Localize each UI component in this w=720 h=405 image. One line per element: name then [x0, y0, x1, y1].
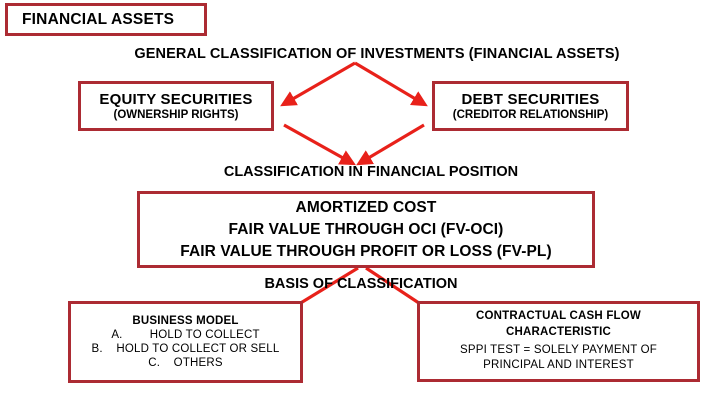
classification-position-header: CLASSIFICATION IN FINANCIAL POSITION — [200, 164, 542, 180]
business-model-item: A. HOLD TO COLLECT — [111, 329, 259, 341]
financial-assets-title-box: FINANCIAL ASSETS — [5, 3, 207, 36]
debt-securities-subtitle: (CREDITOR RELATIONSHIP) — [453, 109, 608, 121]
equity-securities-title: EQUITY SECURITIES — [99, 91, 252, 108]
arrow-equity-to-position — [284, 125, 352, 163]
arrow-debt-to-position — [360, 125, 424, 163]
page-title: FINANCIAL ASSETS — [22, 11, 174, 29]
basis-of-classification-header: BASIS OF CLASSIFICATION — [251, 276, 471, 292]
contractual-title-line-2: CHARACTERISTIC — [506, 325, 611, 341]
contractual-detail-line-1: SPPI TEST = SOLELY PAYMENT OF — [460, 343, 657, 359]
arrow-general-to-debt — [355, 63, 424, 104]
measurement-line: FAIR VALUE THROUGH PROFIT OR LOSS (FV-PL… — [180, 241, 552, 263]
contractual-cash-flow-box: CONTRACTUAL CASH FLOW CHARACTERISTIC SPP… — [417, 301, 700, 382]
measurement-line: FAIR VALUE THROUGH OCI (FV-OCI) — [229, 219, 504, 241]
arrow-general-to-equity — [284, 63, 355, 104]
business-model-title: BUSINESS MODEL — [132, 315, 238, 327]
contractual-title-line-1: CONTRACTUAL CASH FLOW — [476, 309, 641, 325]
equity-securities-box: EQUITY SECURITIES (OWNERSHIP RIGHTS) — [78, 81, 274, 131]
debt-securities-title: DEBT SECURITIES — [461, 91, 599, 108]
general-classification-header: GENERAL CLASSIFICATION OF INVESTMENTS (F… — [118, 46, 636, 62]
contractual-detail-line-2: PRINCIPAL AND INTEREST — [483, 358, 634, 374]
measurement-line: AMORTIZED COST — [296, 197, 437, 219]
diagram-canvas: FINANCIAL ASSETS GENERAL CLASSIFICATION … — [0, 0, 720, 405]
measurement-box: AMORTIZED COST FAIR VALUE THROUGH OCI (F… — [137, 191, 595, 268]
equity-securities-subtitle: (OWNERSHIP RIGHTS) — [113, 109, 238, 121]
business-model-item: B. HOLD TO COLLECT OR SELL — [92, 343, 280, 355]
business-model-item: C. OTHERS — [148, 357, 223, 369]
debt-securities-box: DEBT SECURITIES (CREDITOR RELATIONSHIP) — [432, 81, 629, 131]
business-model-box: BUSINESS MODEL A. HOLD TO COLLECT B. HOL… — [68, 301, 303, 383]
